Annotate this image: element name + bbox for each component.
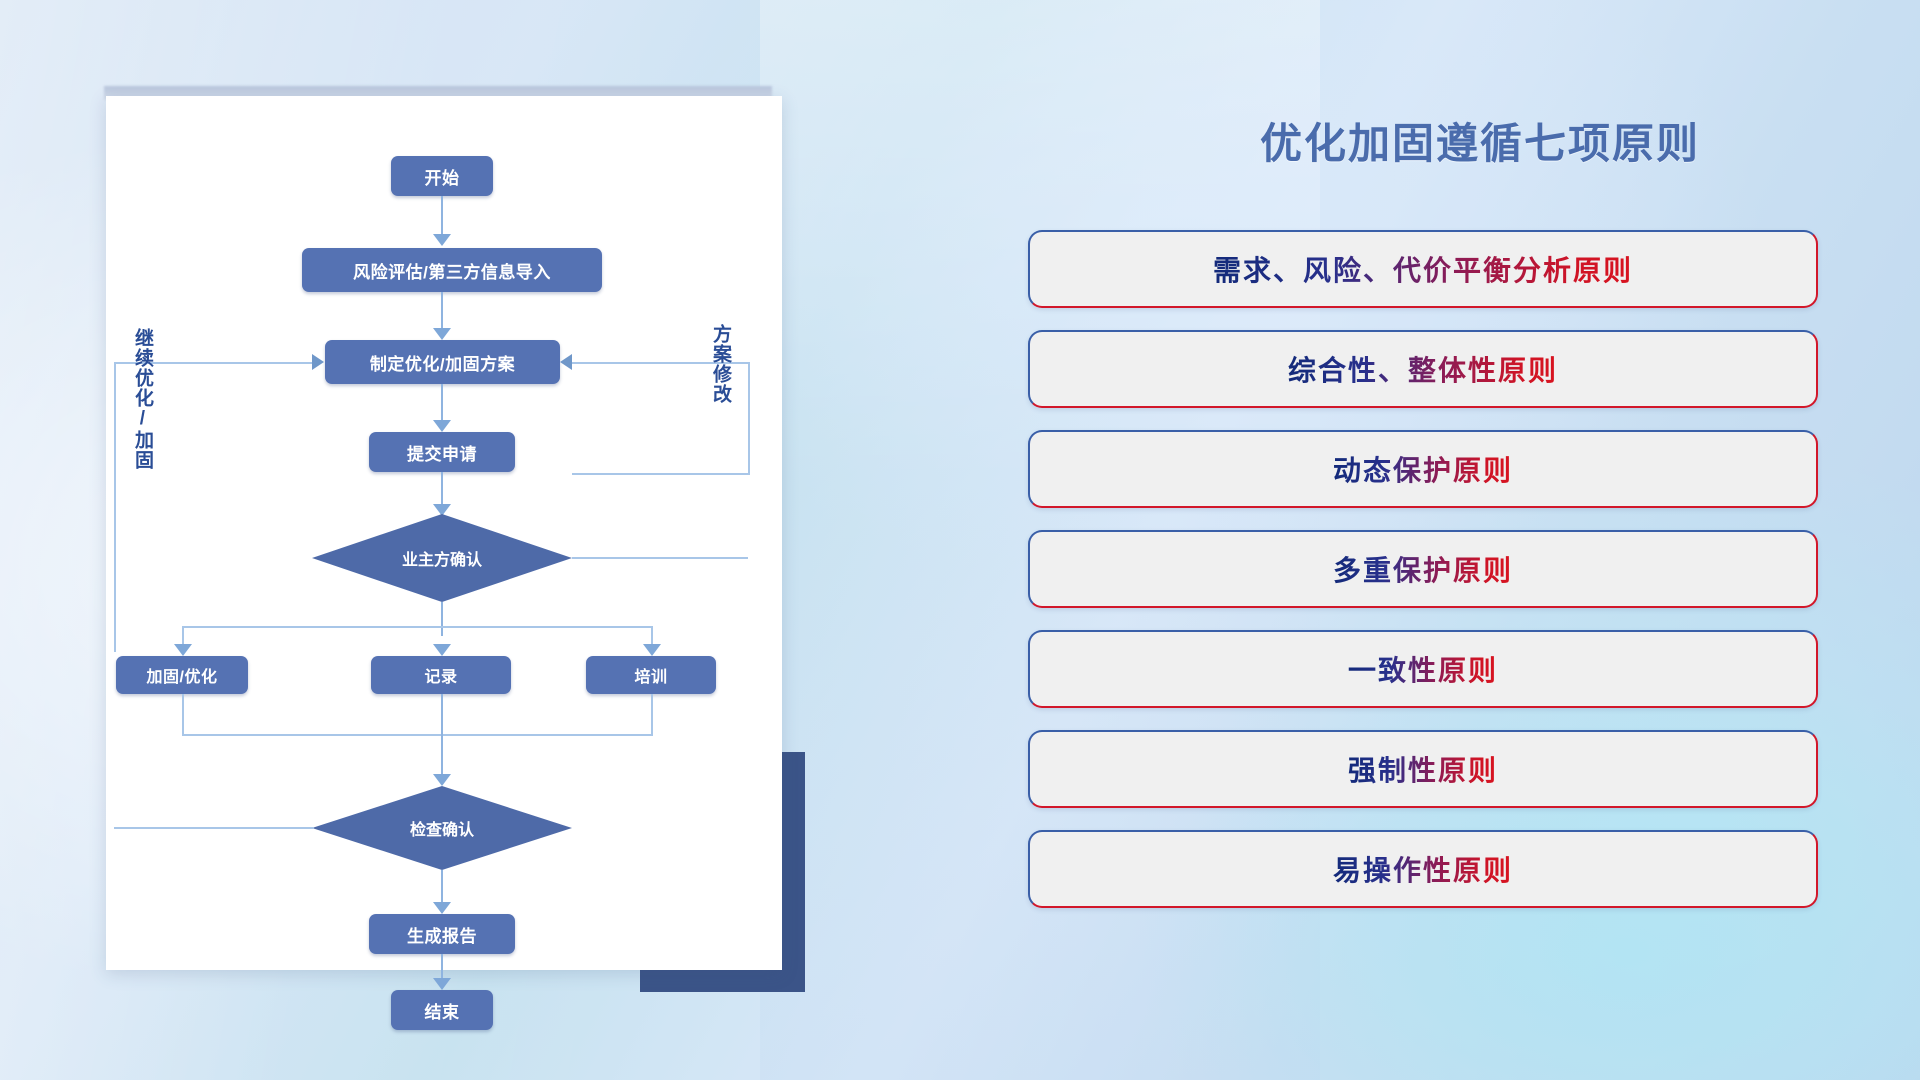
connector-training-down: [651, 694, 653, 736]
principles-panel-title: 优化加固遵循七项原则: [1140, 110, 1820, 171]
arrowhead-down-end: [433, 978, 451, 990]
principle-card[interactable]: 综合性、整体性原则: [1028, 330, 1818, 408]
flowchart-canvas: 开始 风险评估/第三方信息导入 制定优化/加固方案 继续优化/加固 方案修改 提…: [106, 96, 782, 970]
connector-reinforce-down: [182, 694, 184, 736]
flow-node-record[interactable]: 记录: [371, 656, 511, 694]
arrowhead-down-reinforce: [174, 644, 192, 656]
flow-node-training[interactable]: 培训: [586, 656, 716, 694]
flow-node-generate-report[interactable]: 生成报告: [369, 914, 515, 954]
principle-card[interactable]: 需求、风险、代价平衡分析原则: [1028, 230, 1818, 308]
flow-node-end[interactable]: 结束: [391, 990, 493, 1030]
arrowhead-down-training: [643, 644, 661, 656]
principle-card[interactable]: 强制性原则: [1028, 730, 1818, 808]
principles-card-list: 需求、风险、代价平衡分析原则 综合性、整体性原则 动态保护原则 多重保护原则 一…: [1028, 230, 1818, 930]
flowchart-card: 开始 风险评估/第三方信息导入 制定优化/加固方案 继续优化/加固 方案修改 提…: [106, 96, 782, 970]
principles-panel: 优化加固遵循七项原则 需求、风险、代价平衡分析原则 综合性、整体性原则 动态保护…: [1010, 0, 1920, 1080]
arrowhead-down-risk: [433, 234, 451, 246]
connector-record-to-check: [441, 694, 443, 780]
principle-card-label: 需求、风险、代价平衡分析原则: [1213, 249, 1633, 289]
principle-card[interactable]: 多重保护原则: [1028, 530, 1818, 608]
connector-join-bus: [182, 734, 652, 736]
principle-card[interactable]: 动态保护原则: [1028, 430, 1818, 508]
connector-loop-right-vertical: [748, 362, 750, 475]
principle-card-label: 动态保护原则: [1333, 449, 1513, 489]
flow-node-start[interactable]: 开始: [391, 156, 493, 196]
arrowhead-right-plan-left: [312, 354, 324, 370]
principle-card-label: 强制性原则: [1348, 749, 1498, 789]
flow-label-plan-revision: 方案修改: [710, 324, 730, 404]
flow-node-risk-assessment[interactable]: 风险评估/第三方信息导入: [302, 248, 602, 292]
flow-node-reinforce-optimize[interactable]: 加固/优化: [116, 656, 248, 694]
connector-check-to-left-loop: [114, 827, 314, 829]
principle-card-label: 多重保护原则: [1333, 549, 1513, 589]
arrowhead-down-plan: [433, 328, 451, 340]
connector-loop-left-vertical: [114, 362, 116, 652]
connector-owner-to-right-loop: [572, 557, 748, 559]
principle-card-label: 一致性原则: [1348, 649, 1498, 689]
flow-decision-owner-confirm[interactable]: 业主方确认: [312, 514, 572, 602]
flow-label-continue-optimize: 继续优化/加固: [132, 328, 152, 470]
flow-node-submit-application[interactable]: 提交申请: [369, 432, 515, 472]
arrowhead-down-report: [433, 902, 451, 914]
principle-card-label: 易操作性原则: [1333, 849, 1513, 889]
principle-card[interactable]: 易操作性原则: [1028, 830, 1818, 908]
principle-card[interactable]: 一致性原则: [1028, 630, 1818, 708]
connector-branch-bus: [182, 626, 652, 628]
flow-node-plan[interactable]: 制定优化/加固方案: [325, 340, 560, 384]
connector-owner-down: [441, 602, 443, 636]
arrowhead-down-record: [433, 644, 451, 656]
arrowhead-down-check: [433, 774, 451, 786]
arrowhead-left-plan-right: [560, 354, 572, 370]
principle-card-label: 综合性、整体性原则: [1288, 349, 1558, 389]
flow-decision-check-confirm[interactable]: 检查确认: [312, 786, 572, 870]
connector-loop-right-bottom: [572, 473, 750, 475]
arrowhead-down-submit: [433, 420, 451, 432]
